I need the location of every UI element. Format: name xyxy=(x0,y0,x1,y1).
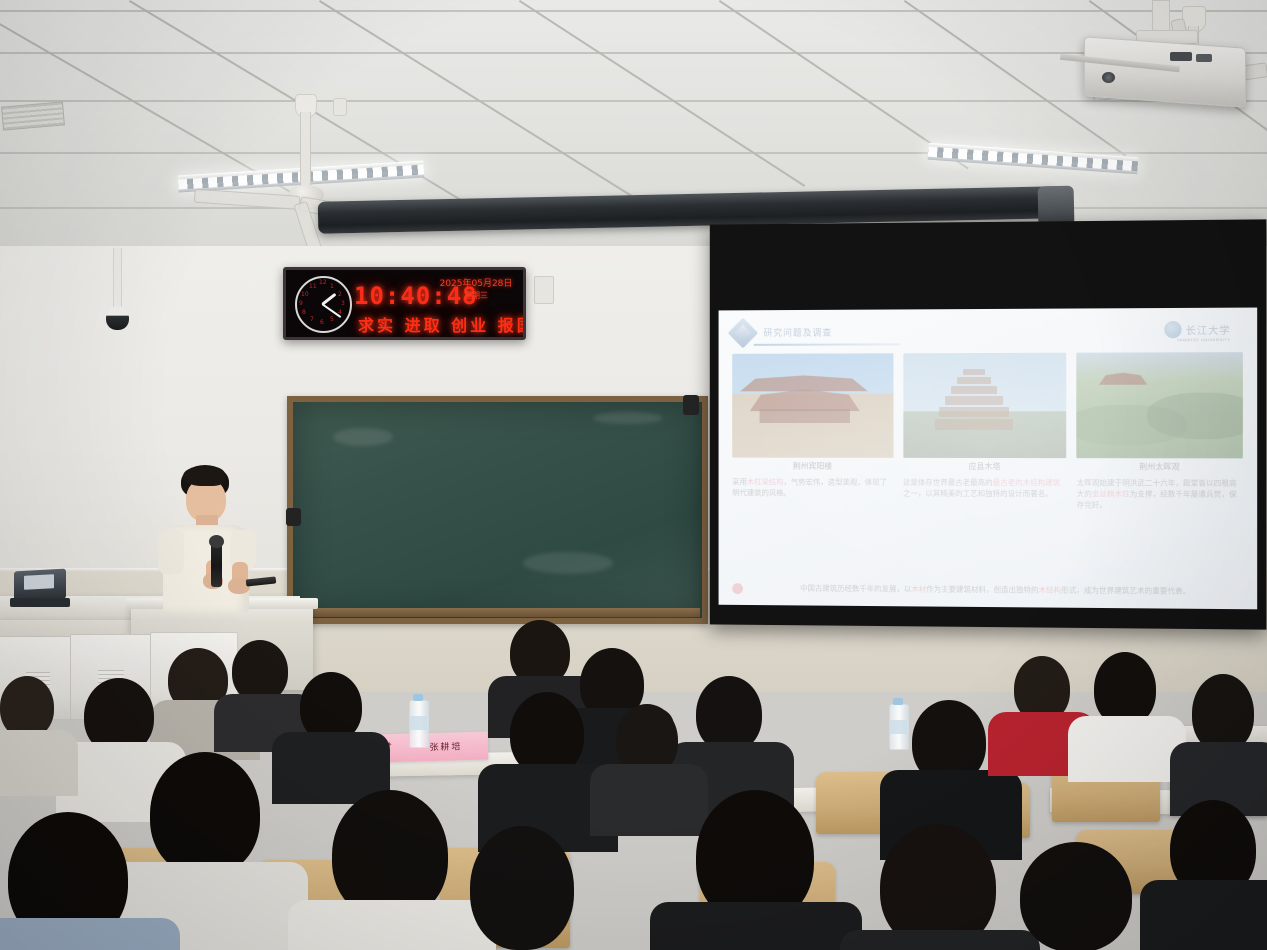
presenter-hair-fringe xyxy=(183,466,225,486)
caption-highlight: 木柱梁结构 xyxy=(747,477,784,486)
fluorescent-light xyxy=(928,143,1139,175)
caption-title: 应县木塔 xyxy=(903,461,1067,472)
footer-text: 作为主要建筑材料，创造出独特的 xyxy=(926,585,1038,595)
caption-text: 这是体存世界最古老最高的 xyxy=(903,478,993,487)
university-logo-mark xyxy=(1164,321,1181,338)
university-logo-subtitle: YANGTZE UNIVERSITY xyxy=(1177,337,1231,342)
blackboard xyxy=(287,396,708,624)
led-clock-board: 12 1 2 3 4 5 6 7 8 9 10 11 10:40:48 2025… xyxy=(283,267,526,340)
slide-image-row xyxy=(732,352,1243,458)
bullet-dot-icon xyxy=(732,583,743,594)
caption-title: 荆州宾阳楼 xyxy=(732,461,893,472)
caption-highlight: 最古老的木结构建筑 xyxy=(993,478,1061,487)
slide-footer-text: 中国古建筑历经数千年的发展，以木材作为主要建筑材料，创造出独特的木结构形式，成为… xyxy=(750,582,1243,597)
caption-highlight: 金丝楠木柱 xyxy=(1092,489,1130,498)
led-date: 2025年05月28日 xyxy=(434,276,518,289)
lecture-hall-scene: 12 1 2 3 4 5 6 7 8 9 10 11 10:40:48 2025… xyxy=(0,0,1267,950)
footer-text: 中国古建筑历经数千年的发展，以 xyxy=(800,584,911,594)
caption-title: 荆州太晖观 xyxy=(1077,461,1243,472)
caption-block: 荆州太晖观 太晖观始建于明洪武二十六年，殿堂皆以四根高大的金丝楠木柱为支撑，经数… xyxy=(1077,461,1243,511)
image-yingxian-pagoda xyxy=(903,353,1067,458)
footer-highlight: 木结构 xyxy=(1039,585,1062,594)
projection-screen-surface: 研究问题及调查 长江大学 YANGTZE UNIVERSITY xyxy=(719,308,1258,610)
projection-screen: 研究问题及调查 长江大学 YANGTZE UNIVERSITY xyxy=(710,219,1267,629)
caption-body: 这是体存世界最古老最高的最古老的木结构建筑之一，以其精美的工艺和独特的设计而著名… xyxy=(903,477,1067,499)
presenter-sleeve-left xyxy=(158,530,184,574)
led-slogan: 求实 进取 创业 报国 xyxy=(358,312,526,336)
led-analog-clock: 12 1 2 3 4 5 6 7 8 9 10 11 xyxy=(295,276,352,333)
name-card: ✦ 张耕培 xyxy=(380,732,489,763)
slide-caption-row: 荆州宾阳楼 采用木柱梁结构，气势宏伟，造型美观，体现了明代建筑的风格。 应县木塔… xyxy=(732,461,1243,511)
smoke-detector xyxy=(333,98,347,116)
ceiling-vent xyxy=(1,101,65,130)
blackboard-clip xyxy=(683,395,699,415)
caption-body: 采用木柱梁结构，气势宏伟，造型美观，体现了明代建筑的风格。 xyxy=(732,476,893,498)
slide-header: 研究问题及调查 长江大学 YANGTZE UNIVERSITY xyxy=(732,317,1239,349)
microphone-head xyxy=(209,535,224,548)
led-weekday: 星期三 xyxy=(434,290,518,301)
presentation-slide: 研究问题及调查 长江大学 YANGTZE UNIVERSITY xyxy=(719,308,1258,610)
image-jingzhou-gate-tower xyxy=(732,353,893,458)
projector-lens xyxy=(1102,72,1115,83)
camera-mount xyxy=(113,248,122,312)
university-logo-text: 长江大学 xyxy=(1186,322,1231,337)
image-jingzhou-taihui-temple xyxy=(1077,352,1243,458)
caption-text: 之一，以其精美的工艺和独特的设计而著名。 xyxy=(903,489,1053,498)
blackboard-clip xyxy=(286,508,301,526)
university-logo: 长江大学 xyxy=(1164,321,1230,338)
caption-block: 应县木塔 这是体存世界最古老最高的最古老的木结构建筑之一，以其精美的工艺和独特的… xyxy=(903,461,1067,510)
slide-header-rule xyxy=(754,343,900,346)
slide-footer: 中国古建筑历经数千年的发展，以木材作为主要建筑材料，创造出独特的木结构形式，成为… xyxy=(732,582,1243,597)
ceiling xyxy=(0,0,1267,248)
slide-header-title: 研究问题及调查 xyxy=(763,326,832,339)
footer-text: 形式，成为世界建筑艺术的重要代表。 xyxy=(1061,586,1190,596)
footer-highlight: 木材 xyxy=(911,584,926,593)
caption-text: 采用 xyxy=(732,477,747,486)
security-camera xyxy=(106,306,129,330)
blackboard-chalk-ledge xyxy=(283,608,700,617)
wall-switch-box[interactable] xyxy=(534,276,554,304)
caption-block: 荆州宾阳楼 采用木柱梁结构，气势宏伟，造型美观，体现了明代建筑的风格。 xyxy=(732,461,893,510)
caption-body: 太晖观始建于明洪武二十六年，殿堂皆以四根高大的金丝楠木柱为支撑，经数千年屡遭兵燹… xyxy=(1077,477,1243,511)
